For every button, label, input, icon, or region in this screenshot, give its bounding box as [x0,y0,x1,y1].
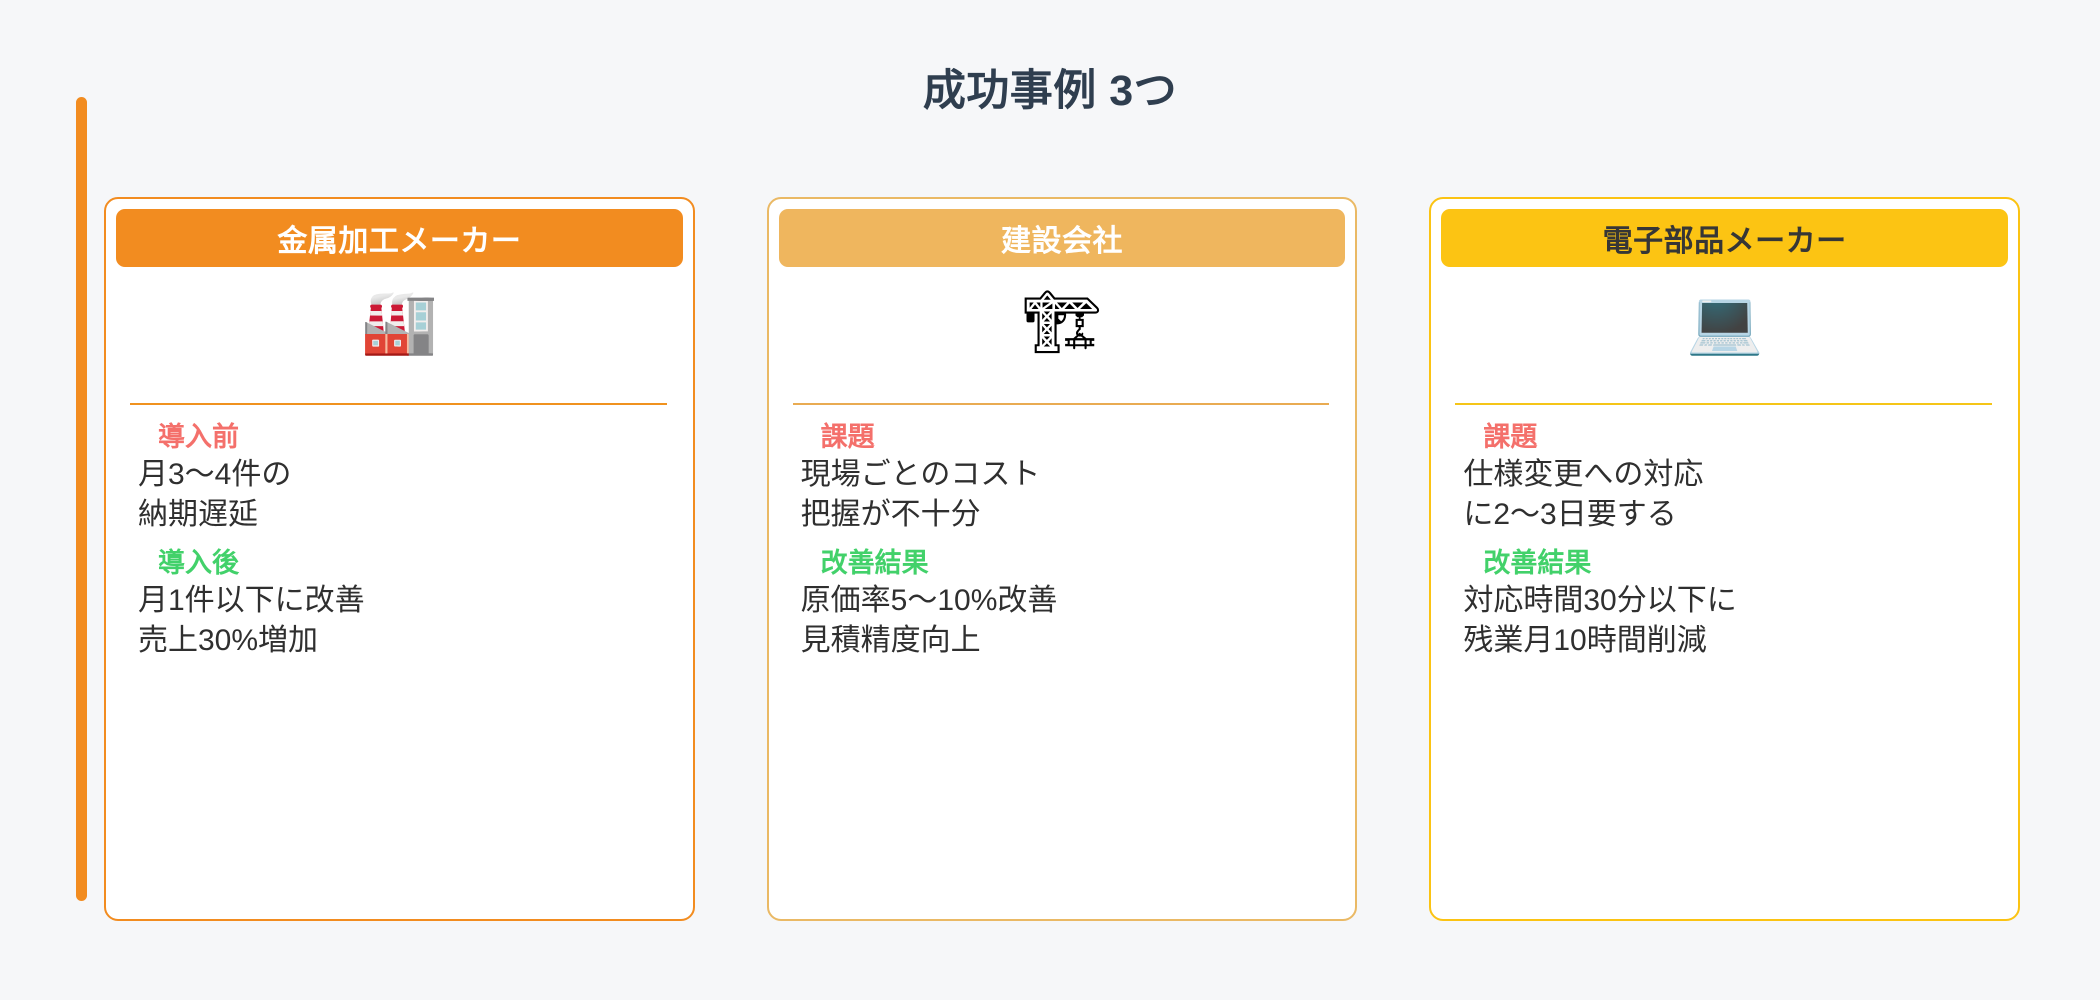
slide-root: 成功事例 3つ 金属加工メーカー 🏭 導入前 月3〜4件の 納期遅延 導入後 月… [0,0,2100,1000]
problem-label: 導入前 [136,419,667,455]
result-label: 改善結果 [1461,545,1992,581]
result-label: 導入後 [136,545,667,581]
problem-label: 課題 [799,419,1330,455]
card-header-title: 建設会社 [779,209,1346,267]
factory-emoji: 🏭 [116,267,683,377]
case-card-metal-manufacturer[interactable]: 金属加工メーカー 🏭 導入前 月3〜4件の 納期遅延 導入後 月1件以下に改善 … [104,197,695,921]
card-header-title: 金属加工メーカー [116,209,683,267]
problem-label: 課題 [1461,419,1992,455]
result-text: 月1件以下に改善 売上30%増加 [136,581,667,660]
problem-text: 現場ごとのコスト 把握が不十分 [799,455,1330,534]
section-gap [136,535,667,545]
problem-text: 月3〜4件の 納期遅延 [136,455,667,534]
card-spacer [779,377,1346,403]
section-gap [1461,535,1992,545]
card-header-title: 電子部品メーカー [1441,209,2008,267]
case-card-list: 金属加工メーカー 🏭 導入前 月3〜4件の 納期遅延 導入後 月1件以下に改善 … [104,197,2020,921]
result-label: 改善結果 [799,545,1330,581]
card-body: 課題 現場ごとのコスト 把握が不十分 改善結果 原価率5〜10%改善 見積精度向… [779,405,1346,919]
laptop-emoji: 💻 [1441,267,2008,377]
page-title: 成功事例 3つ [0,68,2100,115]
card-spacer [116,377,683,403]
card-body: 課題 仕様変更への対応 に2〜3日要する 改善結果 対応時間30分以下に 残業月… [1441,405,2008,919]
card-spacer [1441,377,2008,403]
result-text: 対応時間30分以下に 残業月10時間削減 [1461,581,1992,660]
case-card-construction-company[interactable]: 建設会社 🏗 課題 現場ごとのコスト 把握が不十分 改善結果 原価率5〜10%改… [767,197,1358,921]
card-body: 導入前 月3〜4件の 納期遅延 導入後 月1件以下に改善 売上30%増加 [116,405,683,919]
section-gap [799,535,1330,545]
crane-emoji: 🏗 [779,267,1346,377]
result-text: 原価率5〜10%改善 見積精度向上 [799,581,1330,660]
case-card-electronics-manufacturer[interactable]: 電子部品メーカー 💻 課題 仕様変更への対応 に2〜3日要する 改善結果 対応時… [1429,197,2020,921]
left-accent-bar [76,97,87,901]
problem-text: 仕様変更への対応 に2〜3日要する [1461,455,1992,534]
